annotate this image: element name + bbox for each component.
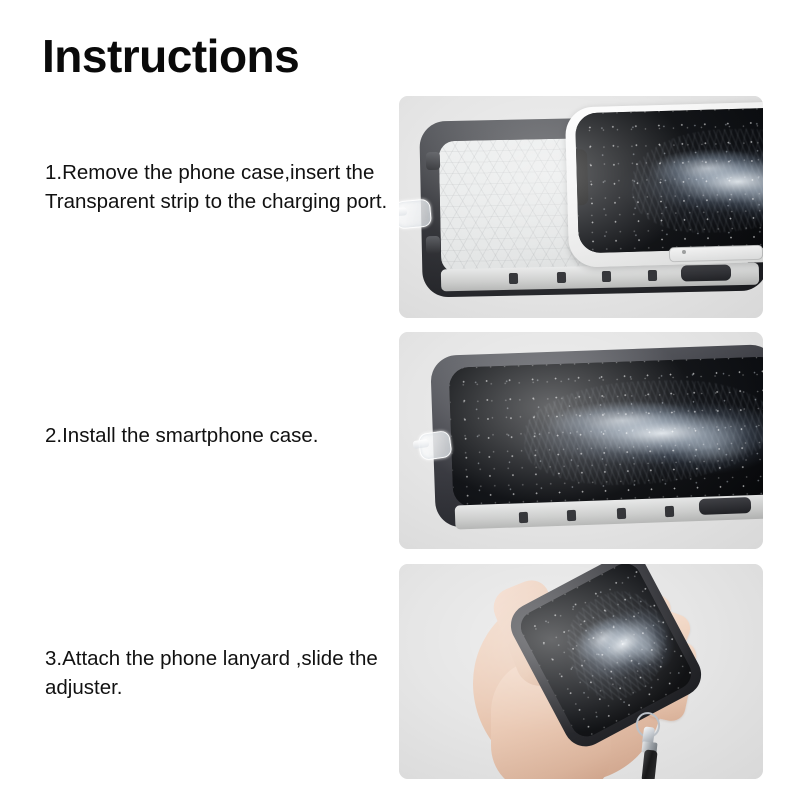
panel-step-2 (399, 332, 763, 549)
installed-screen-wallpaper (449, 356, 763, 507)
installed-case-ridge-2 (567, 510, 576, 521)
step-3-text: 3.Attach the phone lanyard ,slide the ad… (45, 644, 390, 702)
photo-hand-with-lanyard (399, 564, 763, 779)
instructions-page: Instructions 1.Remove the phone case,ins… (0, 0, 800, 800)
case-corner-nub-bottom-left (426, 236, 440, 254)
screen-wallpaper (575, 106, 763, 253)
page-title: Instructions (42, 32, 299, 80)
case-corner-nub-top-left (426, 152, 440, 170)
phone-frame (565, 100, 763, 267)
panel-step-3 (399, 564, 763, 779)
installed-case-ridge-3 (617, 508, 626, 519)
photo-case-and-phone (399, 96, 763, 318)
case-ridge-2 (557, 272, 566, 283)
installed-case-ridge-4 (665, 506, 674, 517)
photo-phone-installed (399, 332, 763, 549)
phone-notch (576, 149, 589, 205)
steps-list: 1.Remove the phone case,insert the Trans… (0, 96, 399, 786)
lanyard-cord (641, 749, 657, 779)
installed-phone-screen (449, 356, 763, 507)
installed-case-ridge-1 (519, 512, 528, 523)
step-2-text: 2.Install the smartphone case. (45, 421, 390, 450)
phone-screen (575, 106, 763, 253)
photo-panels (399, 0, 800, 800)
case-button-cutout (681, 264, 731, 281)
step-1-text: 1.Remove the phone case,insert the Trans… (45, 158, 390, 216)
case-ridge-1 (509, 273, 518, 284)
installed-case-button-cutout (699, 497, 752, 515)
case-ridge-3 (602, 271, 611, 282)
case-ridge-4 (648, 270, 657, 281)
panel-step-1 (399, 96, 763, 318)
